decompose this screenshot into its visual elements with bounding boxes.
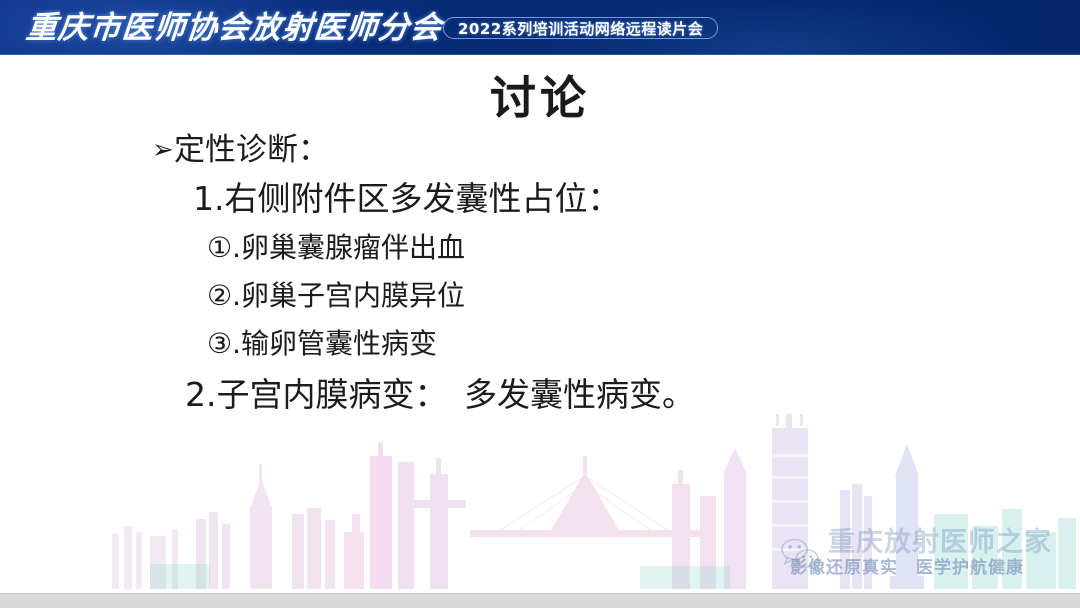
account-slogan: 影像还原真实医学护航健康 — [790, 556, 1024, 580]
slogan-right: 医学护航健康 — [916, 558, 1024, 578]
sublist-item-text: 输卵管囊性病变 — [241, 327, 437, 360]
list-item-number: 1. — [193, 179, 225, 218]
slogan-left: 影像还原真实 — [790, 558, 898, 578]
sublist-item-text: 卵巢子宫内膜异位 — [241, 279, 465, 312]
sublist-item-text: 卵巢囊腺瘤伴出血 — [241, 231, 465, 264]
organization-title: 重庆市医师协会放射医师分会 — [24, 8, 443, 48]
sublist-item-marker: ①. — [207, 231, 241, 264]
list-item: ②.卵巢子宫内膜异位 — [207, 272, 1080, 319]
list-item: 2.子宫内膜病变： 多发囊性病变。 — [185, 371, 1080, 419]
list-item-text: 子宫内膜病变： 多发囊性病变。 — [217, 375, 696, 414]
list-item: ③.输卵管囊性病变 — [207, 320, 1080, 367]
event-badge: 2022系列培训活动网络远程读片会 — [443, 17, 718, 39]
bottom-strip — [0, 593, 1080, 608]
page-title: 讨论 — [0, 62, 1080, 128]
sublist-item-marker: ②. — [207, 279, 241, 312]
account-watermark: 重庆放射医师之家 影像还原真实医学护航健康 — [772, 524, 1062, 586]
account-name: 重庆放射医师之家 — [828, 526, 1052, 560]
city-skyline-watermark — [0, 414, 1080, 594]
header-bottom-rule — [0, 54, 1080, 55]
section-heading: ➢ 定性诊断： — [152, 128, 1080, 172]
arrow-bullet-icon: ➢ — [152, 128, 174, 172]
slide-header-banner: 重庆市医师协会放射医师分会 2022系列培训活动网络远程读片会 — [0, 0, 1080, 55]
presentation-slide: 重庆市医师协会放射医师分会 2022系列培训活动网络远程读片会 讨论 ➢ 定性诊… — [0, 0, 1080, 608]
list-item-number: 2. — [185, 375, 217, 414]
list-item: 1.右侧附件区多发囊性占位： — [193, 175, 1080, 223]
event-badge-label: 2022系列培训活动网络远程读片会 — [458, 18, 703, 39]
list-item-text: 右侧附件区多发囊性占位： — [225, 179, 621, 218]
list-item: ①.卵巢囊腺瘤伴出血 — [207, 224, 1080, 271]
section-heading-label: 定性诊断： — [174, 128, 329, 172]
wechat-icon — [778, 536, 822, 572]
slide-body: ➢ 定性诊断： 1.右侧附件区多发囊性占位： ①.卵巢囊腺瘤伴出血 ②.卵巢子宫… — [0, 128, 1080, 419]
sublist-item-marker: ③. — [207, 327, 241, 360]
